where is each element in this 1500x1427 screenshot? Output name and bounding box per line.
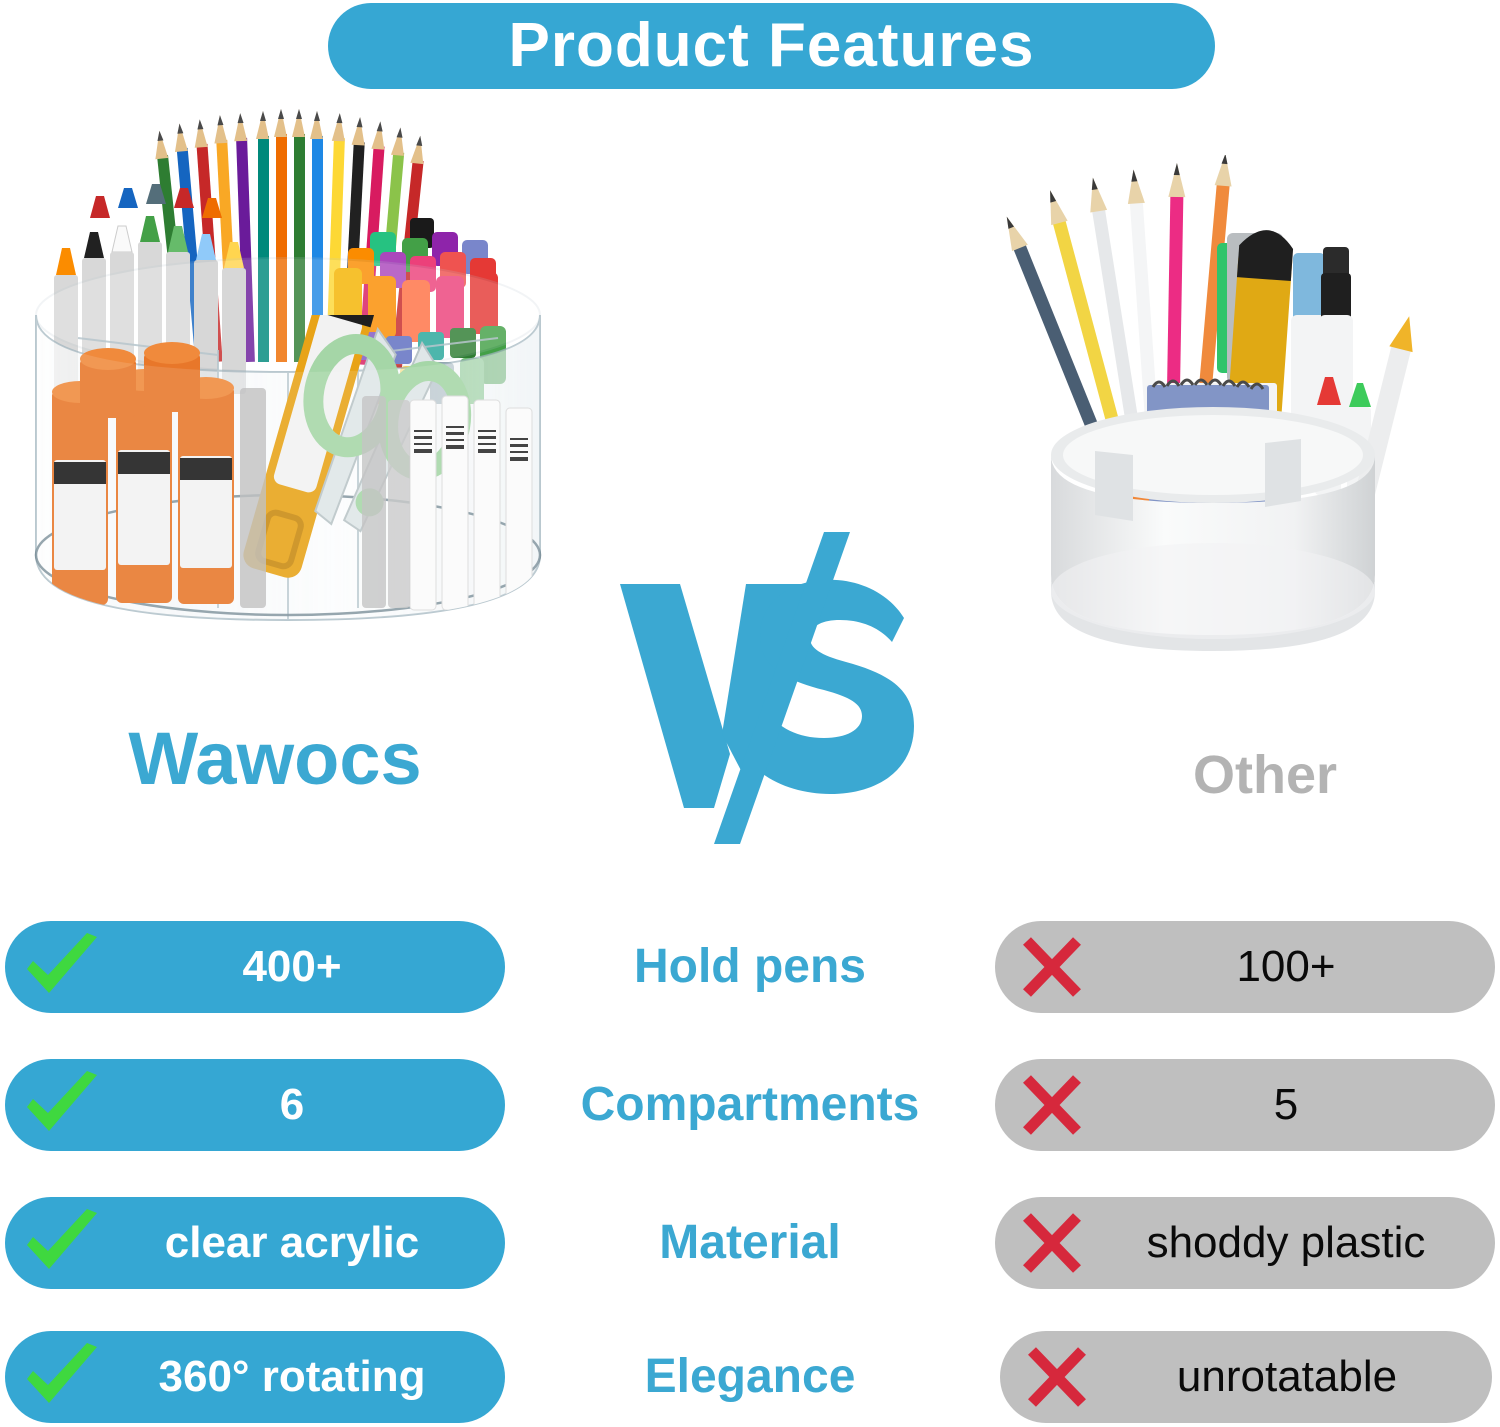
other-value-pill: 100+ xyxy=(995,921,1495,1013)
page-title-banner: Product Features xyxy=(328,3,1215,89)
other-value-pill: 5 xyxy=(995,1059,1495,1151)
feature-label: Elegance xyxy=(520,1331,980,1423)
feature-label: Hold pens xyxy=(520,921,980,1013)
brand-name-wawocs: Wawocs xyxy=(40,722,510,796)
other-value-pill: shoddy plastic xyxy=(995,1197,1495,1289)
other-value: shoddy plastic xyxy=(1097,1221,1495,1265)
check-icon xyxy=(19,1069,105,1141)
cross-icon xyxy=(1011,1207,1097,1279)
other-value-pill: unrotatable xyxy=(1000,1331,1492,1423)
feature-label: Compartments xyxy=(520,1059,980,1151)
brand-name-other: Other xyxy=(1085,748,1445,802)
wawocs-value: 360° rotating xyxy=(105,1355,505,1399)
clear-acrylic-organizer-illustration xyxy=(18,100,558,680)
wawocs-value-pill: 360° rotating xyxy=(5,1331,505,1423)
wawocs-value-pill: 6 xyxy=(5,1059,505,1151)
other-value: unrotatable xyxy=(1102,1355,1492,1399)
cross-icon xyxy=(1016,1341,1102,1413)
cross-icon xyxy=(1011,931,1097,1003)
plastic-container xyxy=(1051,407,1375,651)
wawocs-value-pill: clear acrylic xyxy=(5,1197,505,1289)
wawocs-value: 6 xyxy=(105,1083,505,1127)
comparison-row: 360° rotating Elegance unrotatable xyxy=(0,1331,1500,1427)
wawocs-value: clear acrylic xyxy=(105,1221,505,1265)
check-icon xyxy=(19,1341,105,1413)
wawocs-value-pill: 400+ xyxy=(5,921,505,1013)
other-value: 100+ xyxy=(1097,945,1495,989)
wawocs-product-image xyxy=(18,100,558,680)
comparison-row: 6 Compartments 5 xyxy=(0,1059,1500,1155)
other-product-image xyxy=(965,155,1435,665)
cross-icon xyxy=(1011,1069,1097,1141)
page-title: Product Features xyxy=(509,15,1035,77)
feature-label: Material xyxy=(520,1197,980,1289)
comparison-row: 400+ Hold pens 100+ xyxy=(0,921,1500,1017)
vs-icon xyxy=(618,518,918,844)
check-icon xyxy=(19,1207,105,1279)
other-value: 5 xyxy=(1097,1083,1495,1127)
versus-logo xyxy=(618,518,918,844)
wawocs-value: 400+ xyxy=(105,945,505,989)
comparison-row: clear acrylic Material shoddy plastic xyxy=(0,1197,1500,1293)
check-icon xyxy=(19,931,105,1003)
white-plastic-organizer-illustration xyxy=(965,155,1435,665)
